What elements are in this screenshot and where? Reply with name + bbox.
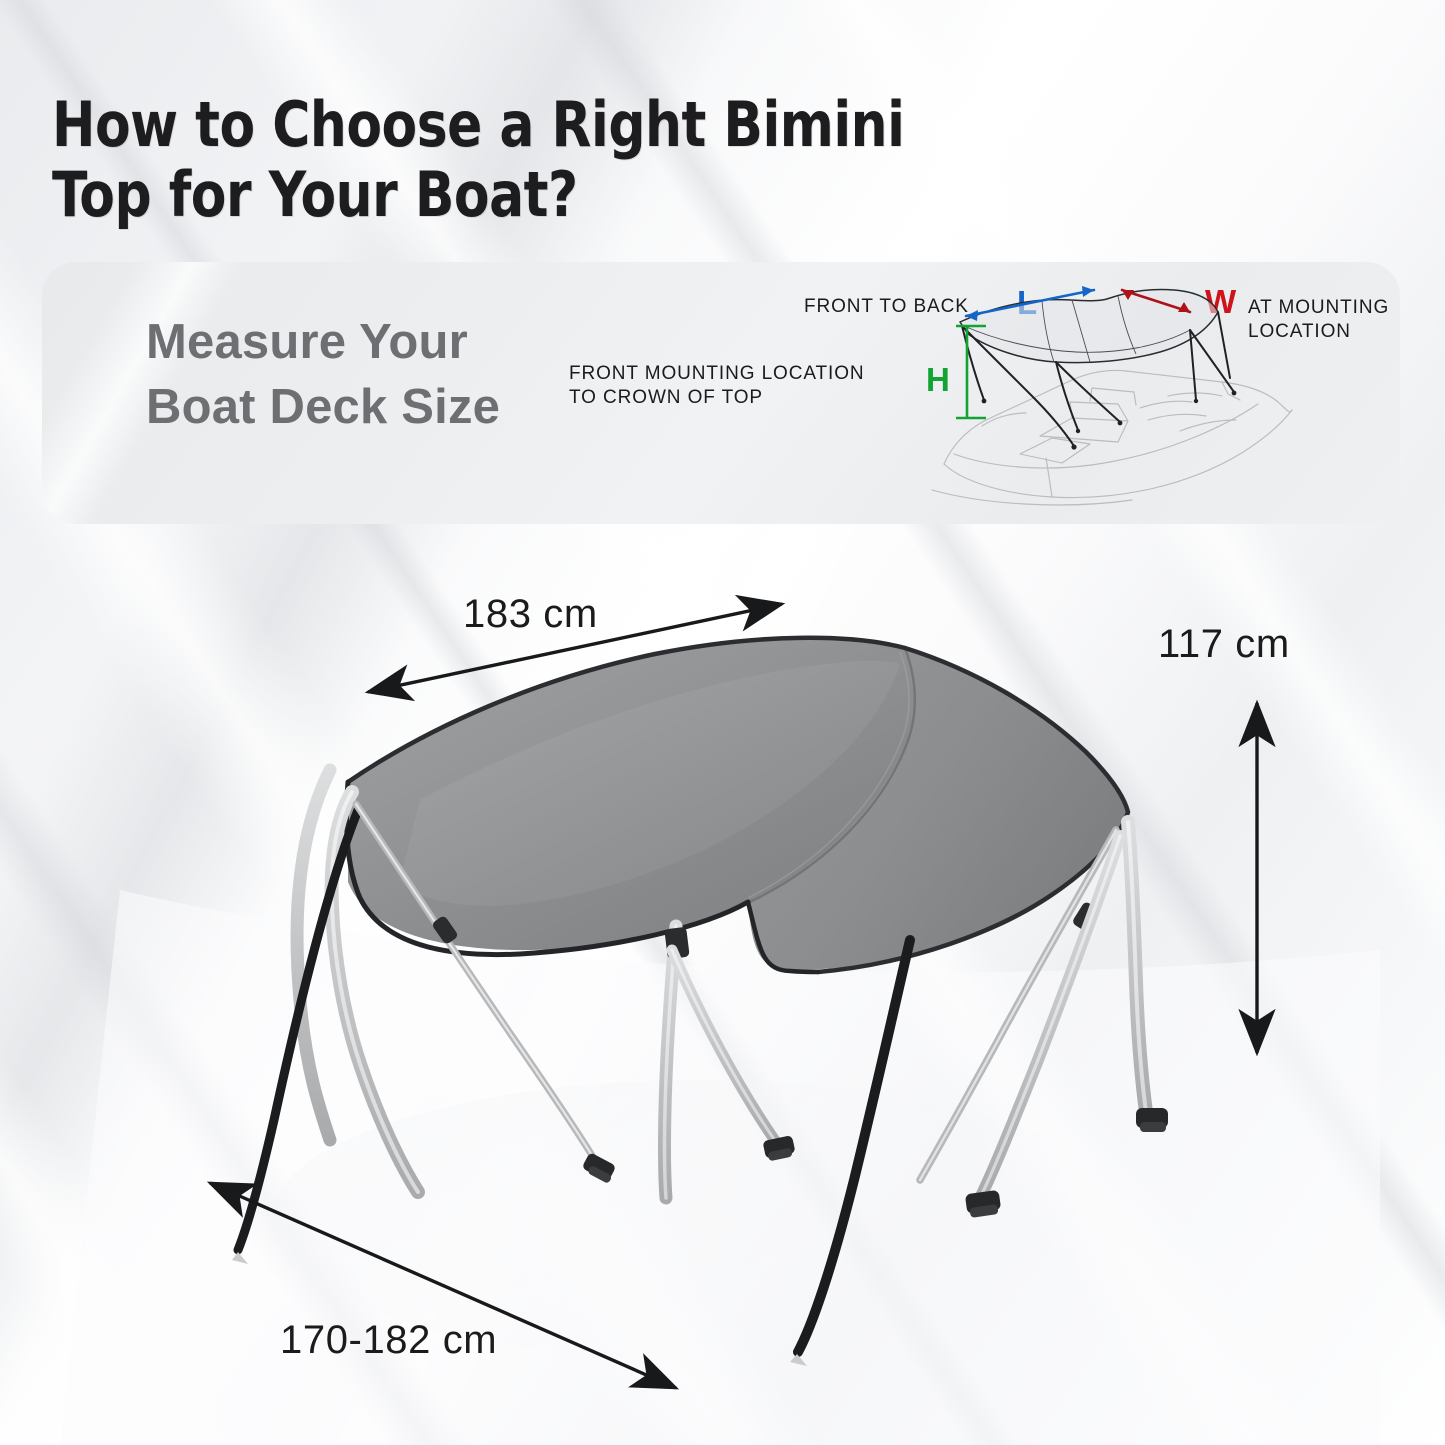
panel-heading: Measure Your Boat Deck Size — [146, 310, 606, 440]
dimension-label-width: 170-182 cm — [280, 1318, 497, 1363]
label-front-mounting-to-crown: FRONT MOUNTING LOCATION TO CROWN OF TOP — [569, 362, 865, 411]
dimension-label-height: 117 cm — [1158, 622, 1290, 667]
boat-bimini-measurement-diagram — [922, 268, 1322, 524]
mounting-hardware-right — [1136, 1108, 1168, 1132]
bimini-canopy — [347, 638, 1129, 972]
dimension-label-length: 183 cm — [463, 592, 598, 637]
infographic-canvas: How to Choose a Right Bimini Top for You… — [0, 0, 1445, 1445]
bimini-top-product-illustration — [0, 530, 1445, 1445]
mounting-hardware-rear-right — [965, 1190, 1001, 1218]
page-title: How to Choose a Right Bimini Top for You… — [52, 90, 1094, 230]
measure-your-boat-deck-size-panel: Measure Your Boat Deck Size FRONT TO BAC… — [42, 262, 1400, 524]
